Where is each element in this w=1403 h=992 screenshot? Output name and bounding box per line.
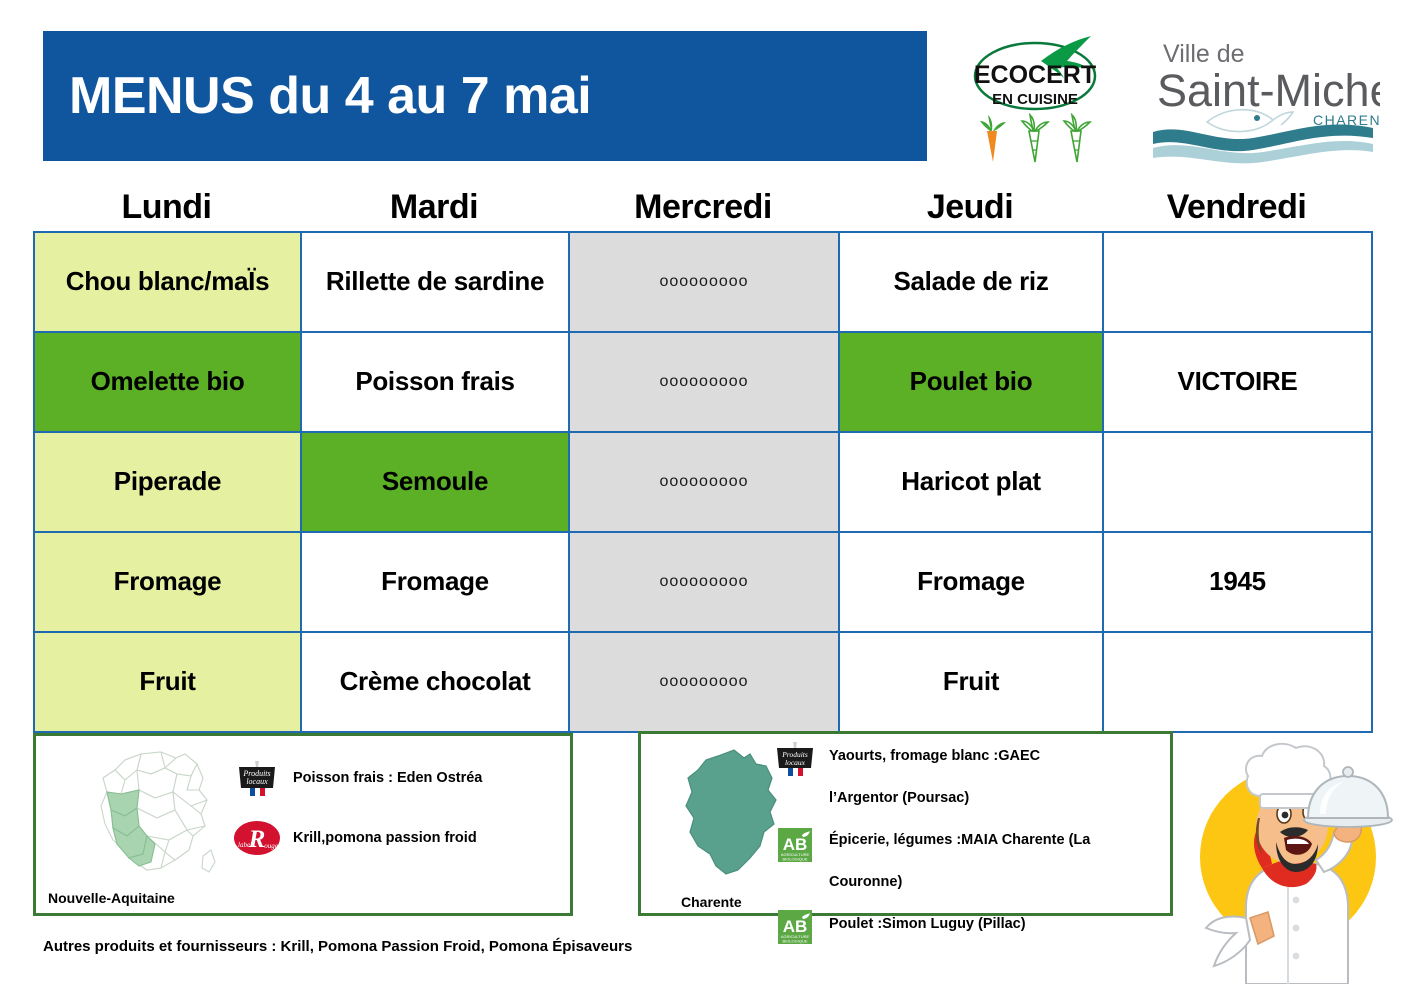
chef-illustration xyxy=(1188,722,1393,984)
menu-cell-vendredi-garniture xyxy=(1103,432,1372,532)
badge-spacer xyxy=(771,866,819,910)
menu-cell-mardi-garniture: Semoule xyxy=(301,432,569,532)
chef-with-cloche-icon xyxy=(1188,722,1393,984)
produits-locaux-badge: Produits locaux xyxy=(231,758,283,798)
table-row: Fruit Crème chocolat ooooooooo Fruit xyxy=(34,632,1372,732)
menu-cell-mercredi-fromage: ooooooooo xyxy=(569,532,839,632)
menu-cell-jeudi-fromage: Fromage xyxy=(839,532,1103,632)
charente-shape xyxy=(686,750,776,874)
list-item: R label ouge Krill,pomona passion froid xyxy=(231,818,561,858)
table-row: Piperade Semoule ooooooooo Haricot plat xyxy=(34,432,1372,532)
table-row: Chou blanc/maÏs Rillette de sardine oooo… xyxy=(34,232,1372,332)
supplier-text: Poulet :Simon Luguy (Pillac) xyxy=(829,910,1026,939)
menu-cell-jeudi-entree: Salade de riz xyxy=(839,232,1103,332)
carrot-icon-outline-2 xyxy=(1064,115,1090,162)
day-header-jeudi: Jeudi xyxy=(838,183,1102,231)
menu-cell-mardi-plat: Poisson frais xyxy=(301,332,569,432)
supplier-text: Épicerie, légumes :MAIA Charente (La xyxy=(829,826,1090,855)
menu-cell-jeudi-garniture: Haricot plat xyxy=(839,432,1103,532)
supplier-list-left: Produits locaux Poisson frais : Eden Ost… xyxy=(231,758,561,878)
supplier-box-nouvelle-aquitaine: Nouvelle-Aquitaine Produits locaux Poiss… xyxy=(33,733,573,916)
title-banner: MENUS du 4 au 7 mai xyxy=(43,31,927,161)
list-item: Produits locaux Yaourts, fromage blanc :… xyxy=(771,742,1166,784)
supplier-text: Krill,pomona passion froid xyxy=(293,830,477,846)
ville-saint-michel-logo: Ville de Saint-Michel CHARENTE xyxy=(1145,26,1380,166)
carrot-icon-outline-1 xyxy=(1022,115,1048,162)
carrot-icon-filled xyxy=(980,115,1006,162)
ab-bio-badge: AB AGRICULTURE BIOLOGIQUE xyxy=(771,824,819,868)
menu-cell-mercredi-entree: ooooooooo xyxy=(569,232,839,332)
supplier-text: Couronne) xyxy=(829,868,902,897)
menu-table-body: Chou blanc/maÏs Rillette de sardine oooo… xyxy=(34,232,1372,732)
supplier-text: l’Argentor (Poursac) xyxy=(829,784,969,813)
menu-table: Chou blanc/maÏs Rillette de sardine oooo… xyxy=(33,231,1373,733)
menu-cell-vendredi-fromage: 1945 xyxy=(1103,532,1372,632)
list-item: Produits locaux Poisson frais : Eden Ost… xyxy=(231,758,561,798)
menu-cell-jeudi-dessert: Fruit xyxy=(839,632,1103,732)
day-header-mercredi: Mercredi xyxy=(568,183,838,231)
ab-bio-badge: AB AGRICULTURE BIOLOGIQUE xyxy=(771,908,819,952)
list-item: l’Argentor (Poursac) xyxy=(771,784,1166,826)
menu-cell-mardi-fromage: Fromage xyxy=(301,532,569,632)
label-rouge-badge: R label ouge xyxy=(231,818,283,858)
svg-text:locaux: locaux xyxy=(246,777,268,786)
region-label-nouvelle-aquitaine: Nouvelle-Aquitaine xyxy=(48,890,175,906)
menu-cell-lundi-garniture: Piperade xyxy=(34,432,301,532)
table-row: Fromage Fromage ooooooooo Fromage 1945 xyxy=(34,532,1372,632)
menu-cell-lundi-plat: Omelette bio xyxy=(34,332,301,432)
supplier-text: Poisson frais : Eden Ostréa xyxy=(293,770,482,786)
supplier-text: Yaourts, fromage blanc :GAEC xyxy=(829,742,1040,771)
svg-text:BIOLOGIQUE: BIOLOGIQUE xyxy=(782,939,807,944)
menu-cell-lundi-entree: Chou blanc/maÏs xyxy=(34,232,301,332)
svg-text:label: label xyxy=(238,841,252,849)
ville-line1: Ville de xyxy=(1163,40,1245,68)
france-map-icon xyxy=(81,744,226,884)
supplier-list-right: Produits locaux Yaourts, fromage blanc :… xyxy=(771,742,1166,952)
menu-cell-lundi-fromage: Fromage xyxy=(34,532,301,632)
day-headers-row: Lundi Mardi Mercredi Jeudi Vendredi xyxy=(33,183,1371,231)
ville-logo-icon: Ville de Saint-Michel CHARENTE xyxy=(1145,26,1380,166)
supplier-box-charente: Charente Produits locaux Yaourts, fromag… xyxy=(638,731,1173,916)
day-header-lundi: Lundi xyxy=(33,183,300,231)
menu-cell-mardi-entree: Rillette de sardine xyxy=(301,232,569,332)
badge-spacer xyxy=(771,782,819,826)
menu-cell-vendredi-plat: VICTOIRE xyxy=(1103,332,1372,432)
menu-cell-vendredi-entree xyxy=(1103,232,1372,332)
produits-locaux-badge: Produits locaux xyxy=(771,740,819,784)
list-item: Couronne) xyxy=(771,868,1166,910)
list-item: AB AGRICULTURE BIOLOGIQUE Poulet :Simon … xyxy=(771,910,1166,952)
ecocert-icon: ECOCERT EN CUISINE xyxy=(963,28,1123,168)
svg-text:locaux: locaux xyxy=(785,758,806,767)
table-row: Omelette bio Poisson frais ooooooooo Pou… xyxy=(34,332,1372,432)
menu-cell-mercredi-plat: ooooooooo xyxy=(569,332,839,432)
svg-text:BIOLOGIQUE: BIOLOGIQUE xyxy=(782,857,807,862)
ville-line2: Saint-Michel xyxy=(1157,65,1380,116)
menu-cell-lundi-dessert: Fruit xyxy=(34,632,301,732)
ecocert-subtitle: EN CUISINE xyxy=(992,91,1078,108)
day-header-mardi: Mardi xyxy=(300,183,568,231)
footer-note: Autres produits et fournisseurs : Krill,… xyxy=(43,938,632,955)
wave-icon xyxy=(1153,125,1373,164)
ecocert-logo: ECOCERT EN CUISINE xyxy=(963,28,1123,168)
menu-cell-vendredi-dessert xyxy=(1103,632,1372,732)
svg-text:ouge: ouge xyxy=(264,842,278,850)
ecocert-name: ECOCERT xyxy=(974,61,1096,89)
day-header-vendredi: Vendredi xyxy=(1102,183,1371,231)
page-title: MENUS du 4 au 7 mai xyxy=(43,66,591,126)
menu-cell-mardi-dessert: Crème chocolat xyxy=(301,632,569,732)
menu-cell-mercredi-garniture: ooooooooo xyxy=(569,432,839,532)
menu-cell-jeudi-plat: Poulet bio xyxy=(839,332,1103,432)
list-item: AB AGRICULTURE BIOLOGIQUE Épicerie, légu… xyxy=(771,826,1166,868)
region-label-charente: Charente xyxy=(681,894,742,910)
menu-cell-mercredi-dessert: ooooooooo xyxy=(569,632,839,732)
